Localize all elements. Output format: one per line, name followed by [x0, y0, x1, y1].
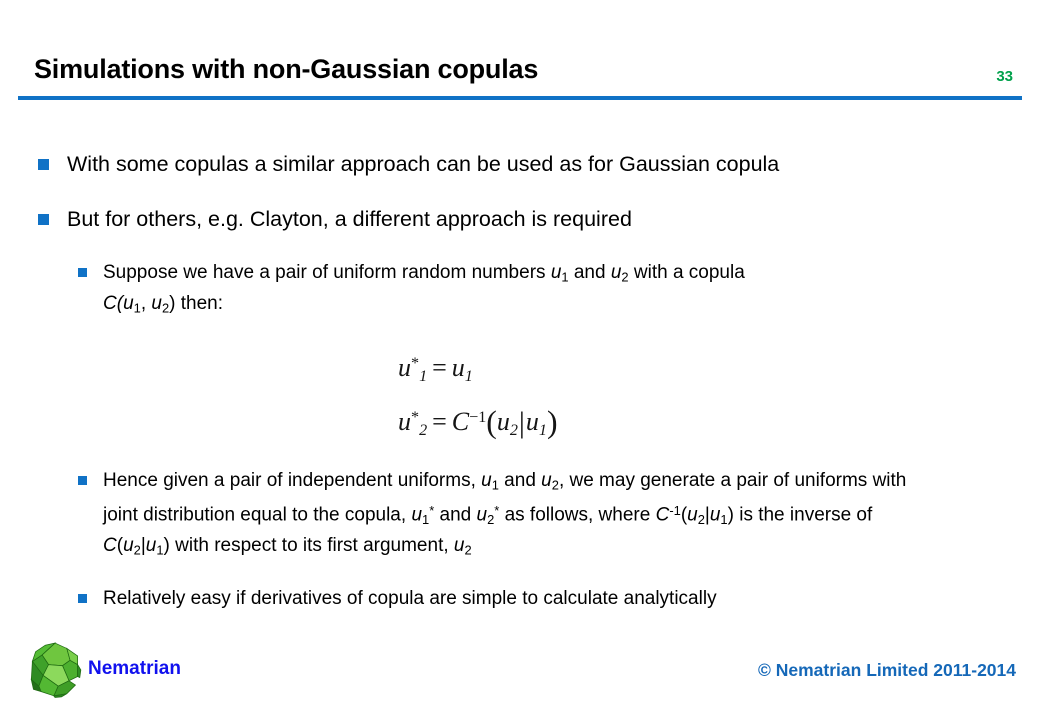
- eq2-operator: =: [427, 407, 452, 436]
- bullet-item-2-label: But for others, e.g. Clayton, a differen…: [67, 205, 632, 234]
- nematrian-logo-text: Nematrian: [88, 658, 181, 680]
- sub-bullet-item-1: Suppose we have a pair of uniform random…: [78, 260, 1040, 321]
- eq2-lhs-sup: *: [411, 409, 419, 426]
- var-u: u: [146, 535, 157, 556]
- var-u: u: [551, 262, 562, 283]
- sub-bullet-item-1-label: Suppose we have a pair of uniform random…: [103, 260, 745, 321]
- slide-footer: Nematrian © Nematrian Limited 2011-2014: [0, 640, 1040, 720]
- var-u: u: [123, 293, 134, 314]
- bullet-item-1: With some copulas a similar approach can…: [38, 150, 1040, 179]
- text-seg: and: [499, 470, 541, 491]
- var-u-sub: 1: [720, 512, 727, 527]
- var-u: u: [454, 535, 465, 556]
- eq2-lhs-sub: 2: [419, 423, 427, 440]
- var-u: u: [151, 293, 162, 314]
- bullet-marker-icon: [38, 214, 49, 225]
- var-u: u: [481, 470, 492, 491]
- var-u: u: [411, 505, 422, 526]
- eq2-arg1-var: u: [497, 407, 510, 436]
- slide-content: With some copulas a similar approach can…: [0, 150, 1040, 634]
- var-u: u: [687, 505, 698, 526]
- var-u-sub: 1: [561, 270, 568, 285]
- copyright-notice: © Nematrian Limited 2011-2014: [758, 660, 1016, 681]
- var-u: u: [541, 470, 552, 491]
- eq2-fn: C: [452, 407, 469, 436]
- var-u-sub: 1: [156, 543, 163, 558]
- page-title: Simulations with non-Gaussian copulas: [34, 54, 538, 85]
- equation-1: u*1=u1: [398, 343, 1040, 397]
- equation-2: u*2=C−1(u2|u1): [398, 397, 1040, 451]
- sub-bullet-item-3-label: Relatively easy if derivatives of copula…: [103, 586, 717, 612]
- bullet-marker-icon: [78, 476, 87, 485]
- eq2-lhs-var: u: [398, 407, 411, 436]
- var-u: u: [477, 505, 488, 526]
- var-u-sub: 1: [492, 477, 499, 492]
- var-u-sub: 2: [134, 543, 141, 558]
- eq2-arg2-var: u: [526, 407, 539, 436]
- var-u: u: [123, 535, 134, 556]
- eq1-rhs-var: u: [452, 353, 465, 382]
- text-seg: Suppose we have a pair of uniform random…: [103, 262, 551, 283]
- bullet-item-2: But for others, e.g. Clayton, a differen…: [38, 205, 1040, 234]
- bullet-marker-icon: [78, 594, 87, 603]
- copula-inverse-exp: -1: [669, 503, 680, 518]
- sub-bullet-item-3: Relatively easy if derivatives of copula…: [78, 586, 1040, 612]
- bullet-marker-icon: [78, 268, 87, 277]
- page-number: 33: [996, 68, 1013, 85]
- text-seg: and: [569, 262, 611, 283]
- copula-fn: C: [656, 505, 670, 526]
- text-seg: ) then:: [169, 293, 223, 314]
- copula-fn: C: [103, 535, 117, 556]
- sub-bullet-item-2: Hence given a pair of independent unifor…: [78, 468, 1040, 564]
- text-seg: ,: [141, 293, 152, 314]
- eq2-fn-sup: −1: [469, 409, 486, 426]
- bullet-marker-icon: [38, 159, 49, 170]
- eq2-open-paren: (: [486, 405, 497, 440]
- var-u: u: [611, 262, 622, 283]
- text-seg: is the inverse of: [734, 505, 872, 526]
- text-seg: as follows, where: [499, 505, 655, 526]
- bullet-item-1-label: With some copulas a similar approach can…: [67, 150, 779, 179]
- var-u-sub: 2: [552, 477, 559, 492]
- eq2-conditional-bar: |: [518, 406, 526, 439]
- eq1-lhs-var: u: [398, 353, 411, 382]
- var-u-sub: 1: [134, 300, 141, 315]
- nematrian-polyhedron-logo-icon: [28, 642, 82, 698]
- text-seg: with a copula: [629, 262, 745, 283]
- var-u: u: [710, 505, 721, 526]
- text-seg: and: [434, 505, 476, 526]
- eq2-arg2-sub: 1: [539, 423, 547, 440]
- var-u-sub: 2: [698, 512, 705, 527]
- var-u-sub: 2: [464, 543, 471, 558]
- text-seg: Hence given a pair of independent unifor…: [103, 470, 481, 491]
- eq1-lhs-sup: *: [411, 355, 419, 372]
- title-divider: [18, 96, 1022, 100]
- eq2-close-paren: ): [547, 405, 558, 440]
- eq2-arg1-sub: 2: [510, 423, 518, 440]
- text-seg: with respect to its first argument,: [170, 535, 454, 556]
- eq1-lhs-sub: 1: [419, 368, 427, 385]
- eq1-rhs-sub: 1: [465, 368, 473, 385]
- eq1-operator: =: [427, 353, 452, 382]
- equation-block: u*1=u1 u*2=C−1(u2|u1): [398, 343, 1040, 451]
- var-u-sub: 2: [621, 270, 628, 285]
- copula-fn: C(: [103, 293, 123, 314]
- sub-bullet-item-2-label: Hence given a pair of independent unifor…: [103, 468, 943, 564]
